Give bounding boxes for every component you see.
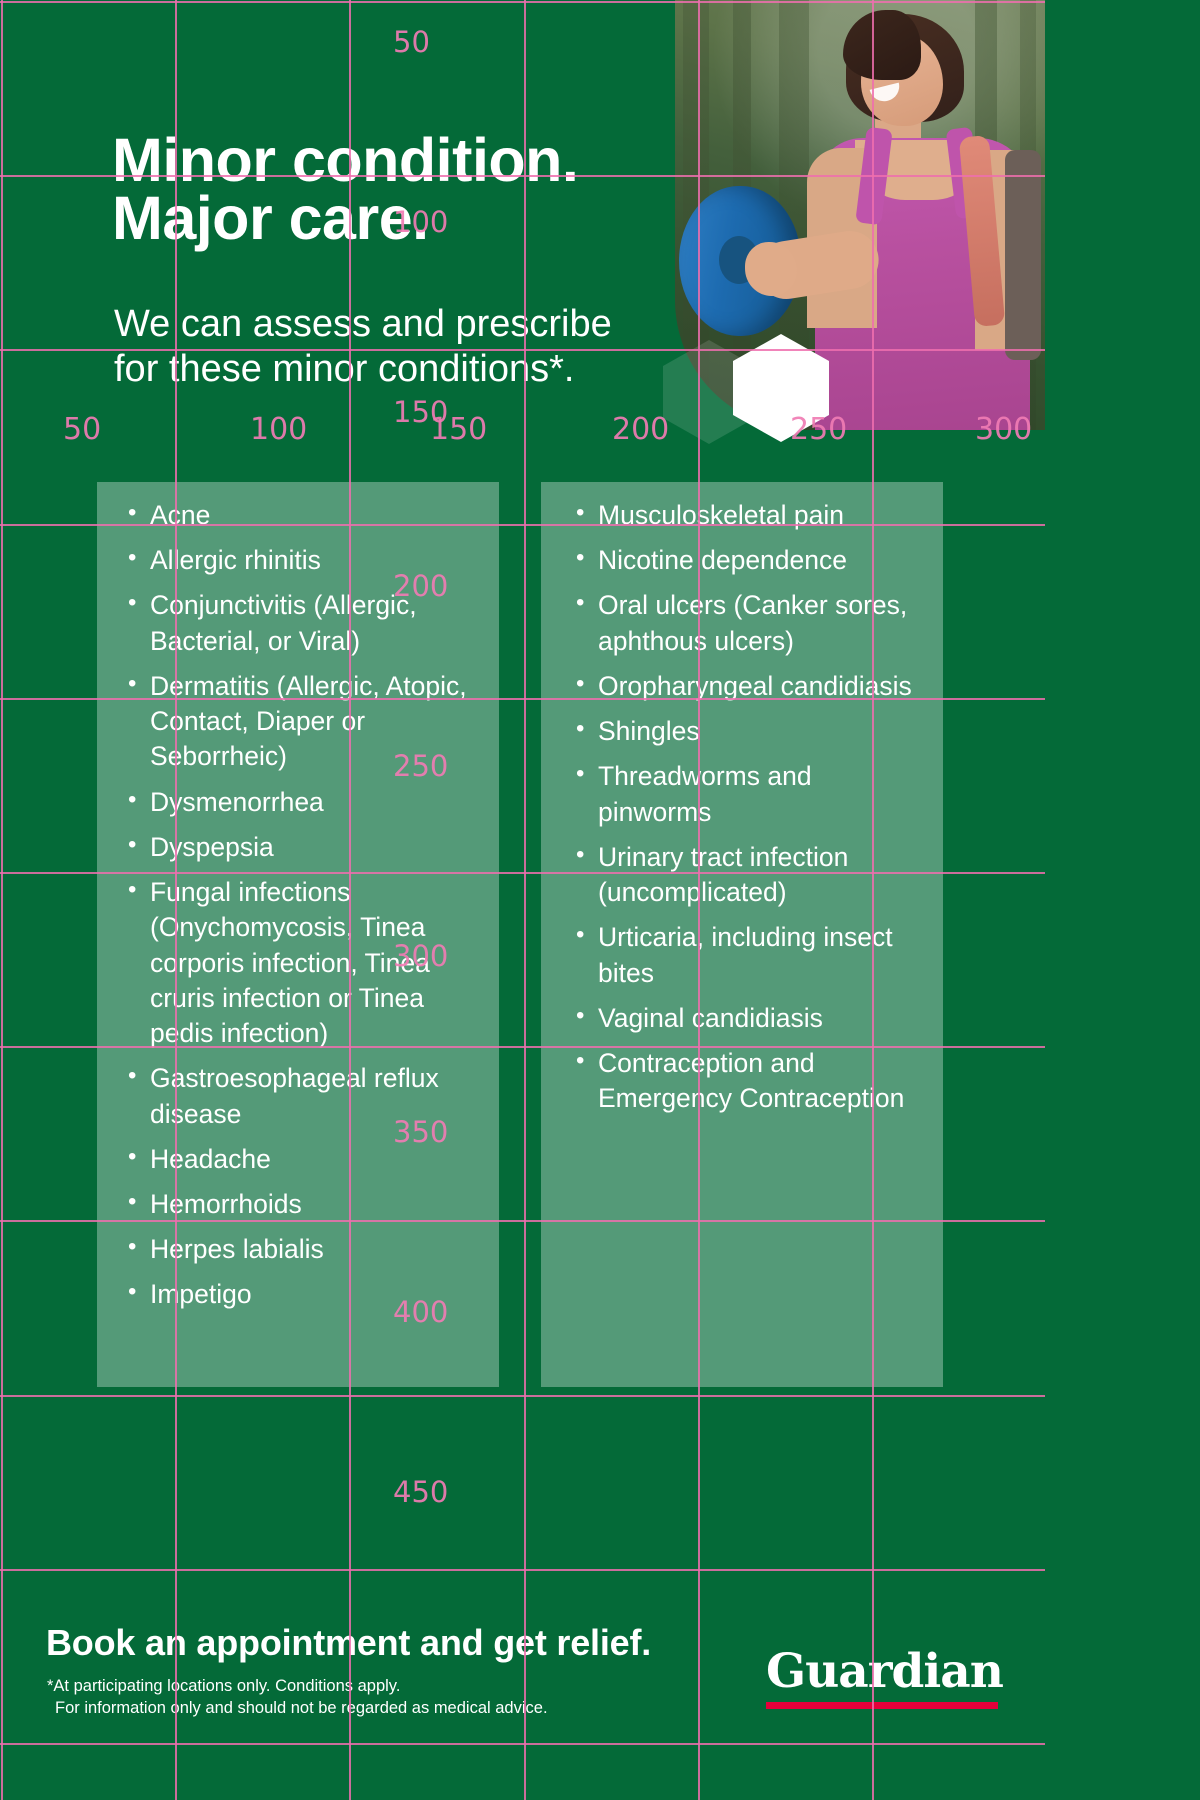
list-item: Gastroesophageal reflux disease <box>128 1061 488 1131</box>
list-item: Shingles <box>576 714 928 749</box>
subheading-line-2: for these minor conditions*. <box>114 347 674 392</box>
conditions-list-right: Musculoskeletal painNicotine dependenceO… <box>576 498 928 1127</box>
grid-line-horizontal <box>0 1395 1045 1397</box>
guardian-logo: Guardian <box>766 1648 998 1709</box>
list-item: Vaginal candidiasis <box>576 1001 928 1036</box>
title-line-2: Major care. <box>112 190 732 248</box>
grid-label-x: 150 <box>430 415 487 445</box>
subheading: We can assess and prescribe for these mi… <box>114 302 674 392</box>
grid-line-vertical <box>1 0 3 1800</box>
list-item: Oral ulcers (Canker sores, aphthous ulce… <box>576 588 928 658</box>
logo-wordmark: Guardian <box>766 1648 998 1695</box>
poster-canvas: Minor condition. Major care. We can asse… <box>0 0 1045 1800</box>
list-item: Hemorrhoids <box>128 1187 488 1222</box>
list-item: Conjunctivitis (Allergic, Bacterial, or … <box>128 588 488 658</box>
list-item: Headache <box>128 1142 488 1177</box>
list-item: Allergic rhinitis <box>128 543 488 578</box>
grid-label-x: 200 <box>612 415 669 445</box>
list-item: Dyspepsia <box>128 830 488 865</box>
cta-text: Book an appointment and get relief. <box>46 1622 806 1664</box>
list-item: Acne <box>128 498 488 533</box>
list-item: Urinary tract infection (uncomplicated) <box>576 840 928 910</box>
list-item: Threadworms and pinworms <box>576 759 928 829</box>
subheading-line-1: We can assess and prescribe <box>114 303 612 345</box>
backpack-strap <box>1005 150 1041 360</box>
list-item: Impetigo <box>128 1277 488 1312</box>
logo-underline <box>766 1702 998 1709</box>
list-item: Urticaria, including insect bites <box>576 920 928 990</box>
list-item: Herpes labialis <box>128 1232 488 1267</box>
grid-label-x: 100 <box>250 415 307 445</box>
grid-line-vertical <box>524 0 526 1800</box>
grid-label-y: 150 <box>393 398 448 427</box>
disclaimer: *At participating locations only. Condit… <box>47 1676 667 1720</box>
list-item: Fungal infections (Onychomycosis, Tinea … <box>128 875 488 1051</box>
disclaimer-line-1: *At participating locations only. Condit… <box>47 1676 667 1698</box>
list-item: Dermatitis (Allergic, Atopic, Contact, D… <box>128 669 488 775</box>
grid-label-y: 50 <box>393 28 430 57</box>
conditions-list-left: AcneAllergic rhinitisConjunctivitis (All… <box>128 498 488 1323</box>
list-item: Nicotine dependence <box>576 543 928 578</box>
grid-line-horizontal <box>0 1569 1045 1571</box>
grid-label-x: 50 <box>63 415 101 445</box>
disclaimer-line-2: For information only and should not be r… <box>47 1698 667 1720</box>
list-item: Dysmenorrhea <box>128 785 488 820</box>
grid-line-horizontal <box>0 1743 1045 1745</box>
list-item: Oropharyngeal candidiasis <box>576 669 928 704</box>
woman-hand <box>745 242 797 296</box>
page-title: Minor condition. Major care. <box>112 132 732 248</box>
list-item: Contraception and Emergency Contraceptio… <box>576 1046 928 1116</box>
list-item: Musculoskeletal pain <box>576 498 928 533</box>
grid-label-y: 450 <box>393 1478 448 1507</box>
